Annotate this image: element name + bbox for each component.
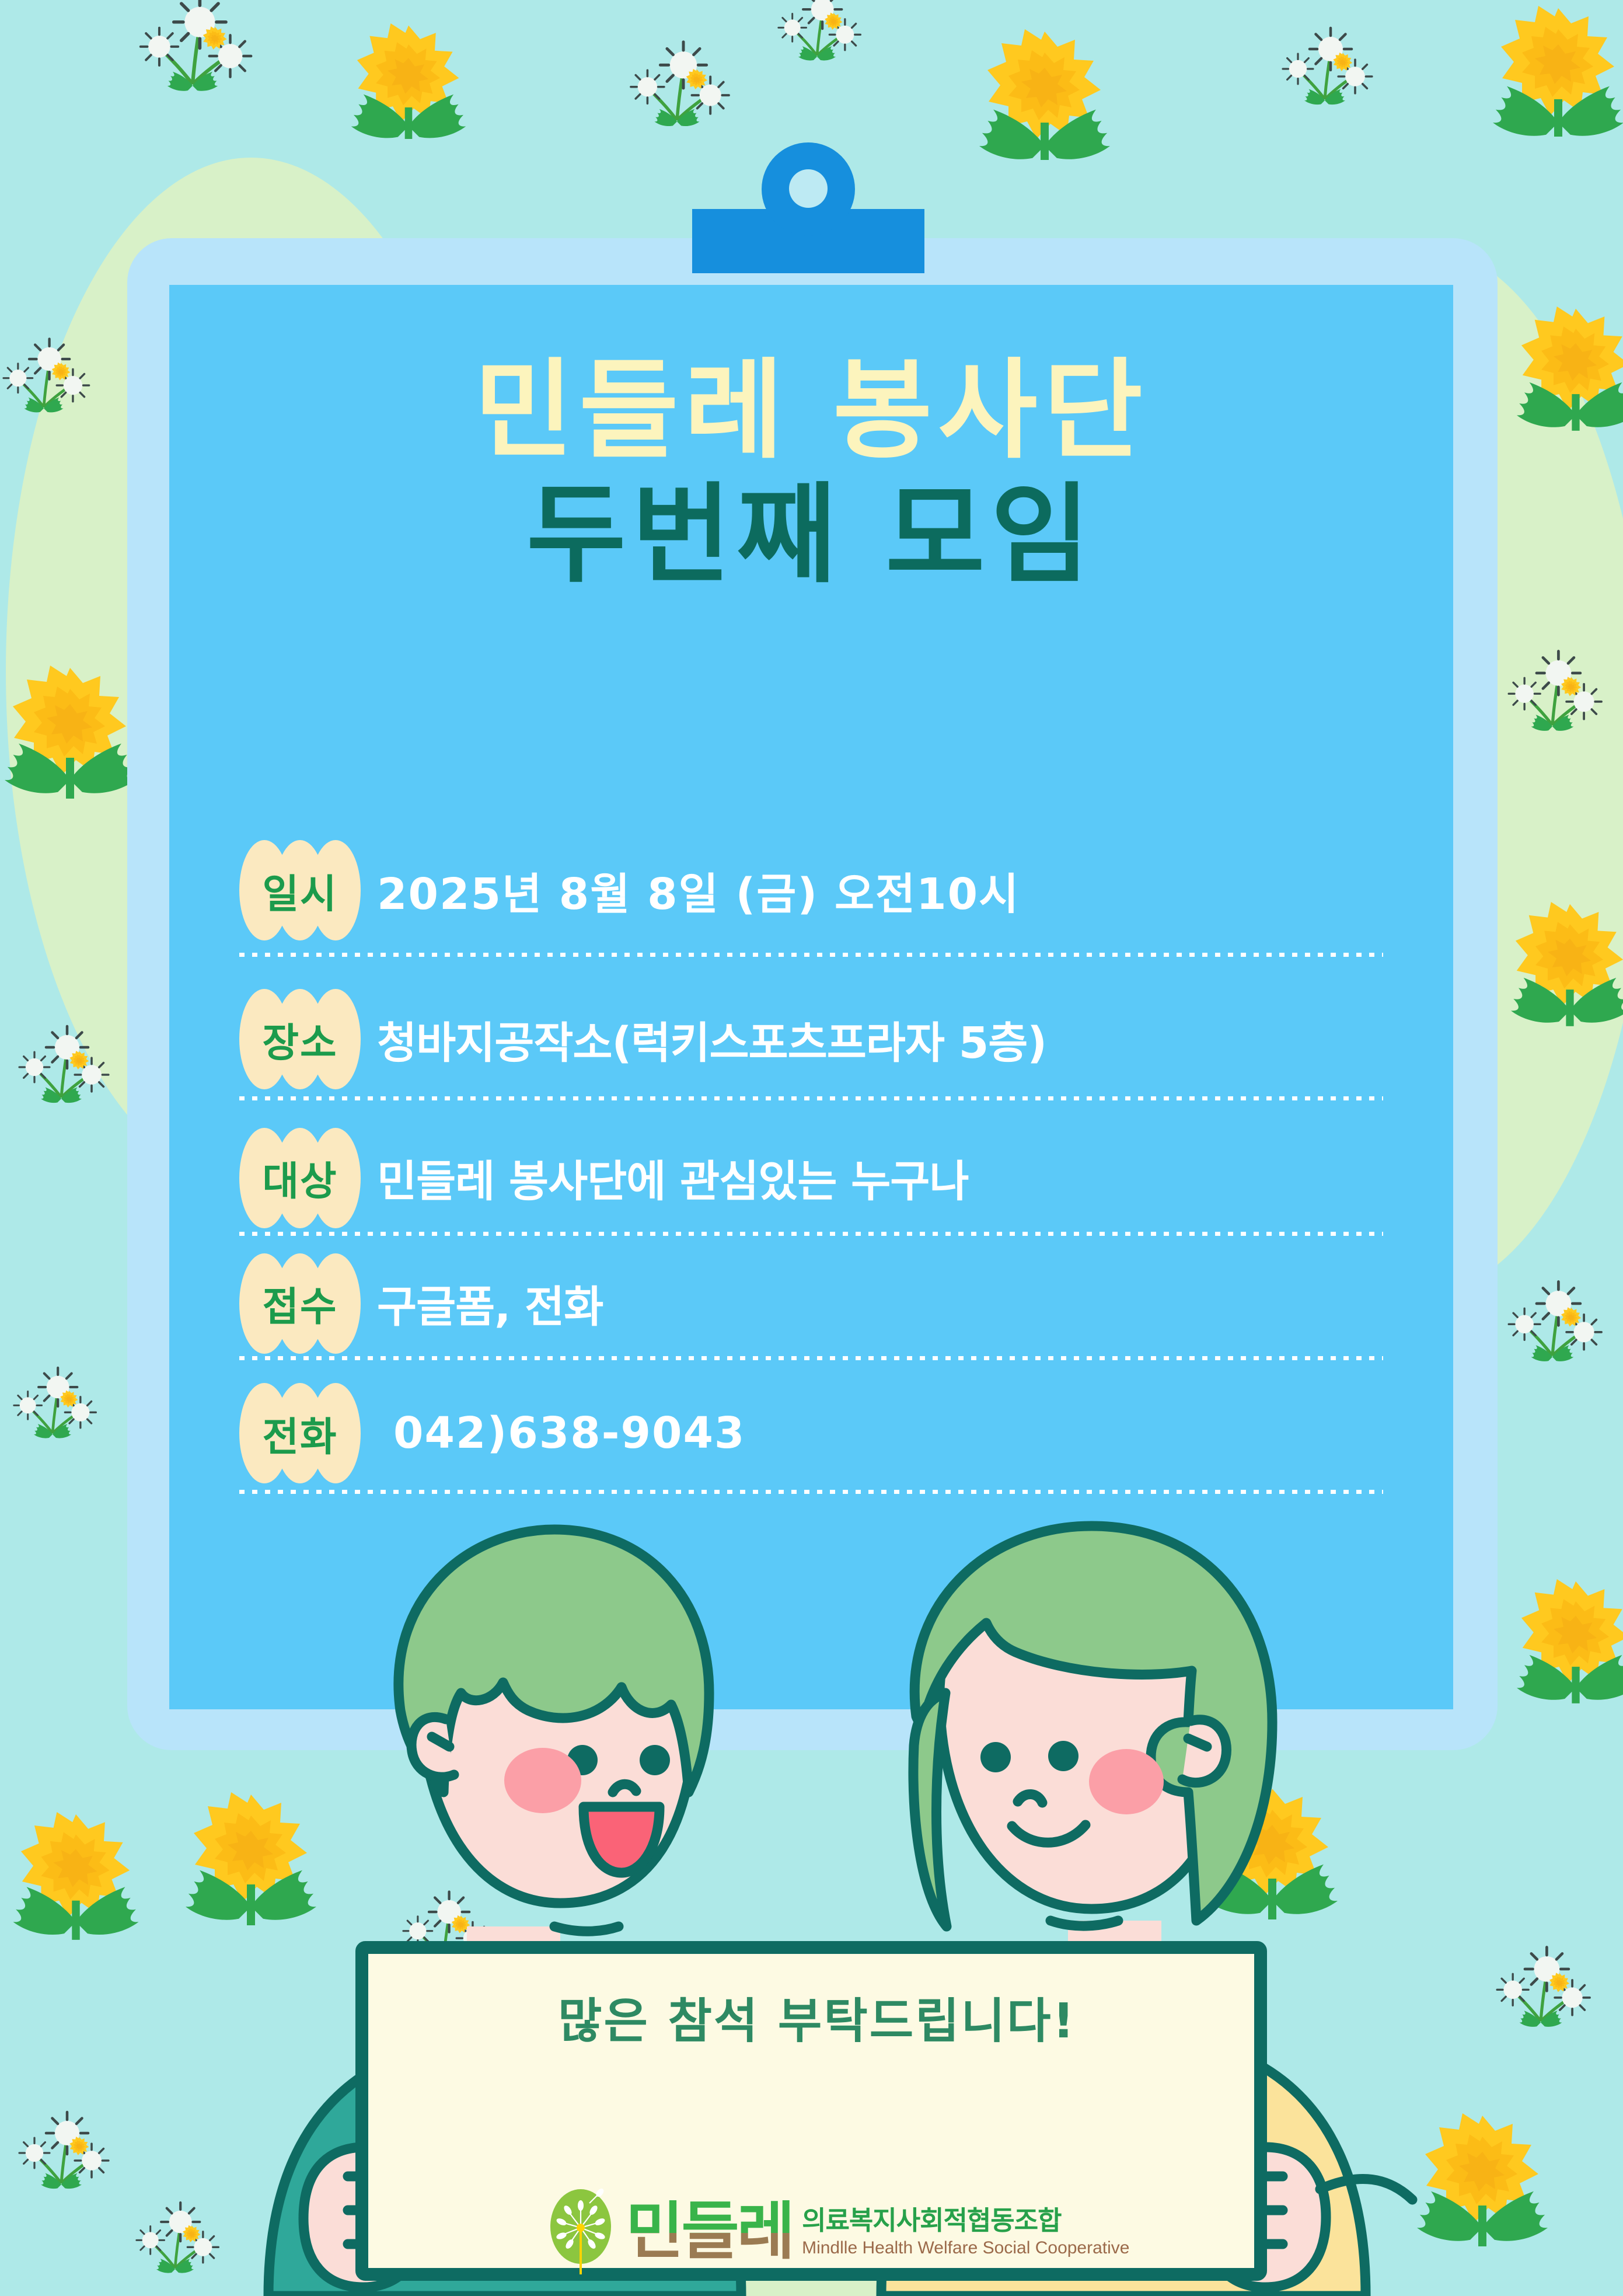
info-value-audience: 민들레 봉사단에 관심있는 누구나 (377, 1147, 968, 1209)
sign-message: 많은 참석 부탁드립니다! (374, 1982, 1261, 2051)
poster-title-line1: 민들레 봉사단 (169, 350, 1453, 471)
info-row-registration: 접수 구글폼, 전화 (239, 1241, 1383, 1366)
info-label-badge-registration: 접수 (239, 1253, 361, 1354)
logo-org-english: Mindlle Health Welfare Social Cooperativ… (802, 2238, 1129, 2257)
info-value-phone: 042)638-9043 (393, 1408, 745, 1458)
info-row-phone: 전화 042)638-9043 (239, 1366, 1383, 1500)
info-label-text: 접수 (239, 1253, 361, 1354)
info-label-badge-phone: 전화 (239, 1383, 361, 1483)
info-divider (239, 1356, 1383, 1360)
info-list: 일시 2025년 8월 8일 (금) 오전10시 장소 청바지공작소(럭키스포츠… (239, 817, 1383, 1500)
info-value-registration: 구글폼, 전화 (377, 1272, 603, 1335)
info-label-text: 일시 (239, 840, 361, 940)
logo-org-korean: 의료복지사회적협동조합 (802, 2206, 1129, 2235)
info-divider (239, 1232, 1383, 1236)
info-label-text: 대상 (239, 1128, 361, 1228)
dandelion-icon (549, 2188, 617, 2276)
organization-logo: 민들레 의료복지사회적협동조합 Mindlle Health Welfare S… (549, 2188, 1129, 2276)
info-divider (239, 953, 1383, 957)
info-divider (239, 1490, 1383, 1494)
info-row-datetime: 일시 2025년 8월 8일 (금) 오전10시 (239, 817, 1383, 963)
info-label-badge-datetime: 일시 (239, 840, 361, 940)
info-label-text: 장소 (239, 989, 361, 1089)
logo-name-korean: 민들레 (626, 2200, 793, 2263)
poster-title-line2: 두번째 모임 (169, 475, 1453, 595)
characters-illustration (0, 1518, 1623, 2296)
logo-text-block: 의료복지사회적협동조합 Mindlle Health Welfare Socia… (802, 2206, 1129, 2257)
info-label-badge-audience: 대상 (239, 1128, 361, 1228)
info-divider (239, 1096, 1383, 1100)
info-row-location: 장소 청바지공작소(럭키스포츠프라자 5층) (239, 963, 1383, 1115)
info-label-badge-location: 장소 (239, 989, 361, 1089)
info-value-location: 청바지공작소(럭키스포츠프라자 5층) (377, 1008, 1046, 1071)
info-label-text: 전화 (239, 1383, 361, 1483)
poster-title-block: 민들레 봉사단 두번째 모임 (169, 350, 1453, 595)
info-row-audience: 대상 민들레 봉사단에 관심있는 누구나 (239, 1115, 1383, 1241)
info-value-datetime: 2025년 8월 8일 (금) 오전10시 (377, 859, 1020, 922)
clipboard-clip-hole (789, 169, 828, 208)
